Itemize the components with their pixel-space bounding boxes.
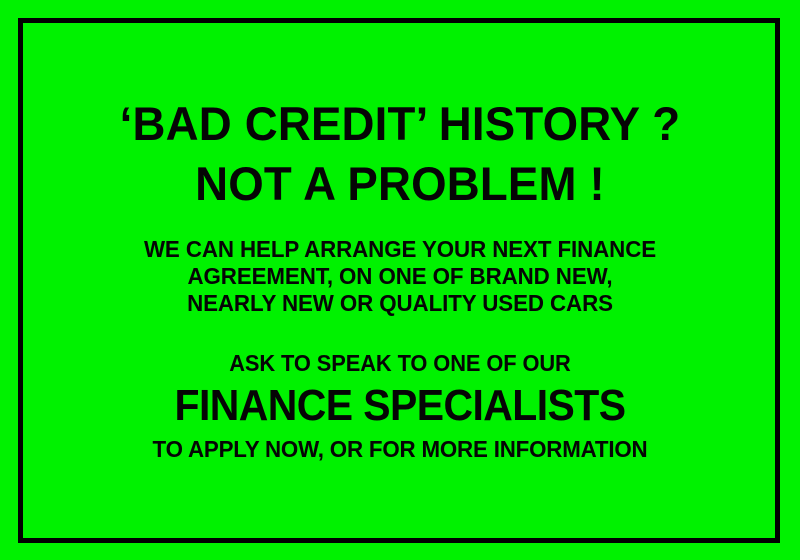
call-to-action-group: ASK TO SPEAK TO ONE OF OUR FINANCE SPECI…: [28, 348, 772, 464]
body-paragraph: WE CAN HELP ARRANGE YOUR NEXT FINANCE AG…: [28, 236, 772, 317]
headline-group: ‘BAD CREDIT’ HISTORY ? NOT A PROBLEM !: [28, 94, 772, 214]
poster: ‘BAD CREDIT’ HISTORY ? NOT A PROBLEM ! W…: [0, 0, 800, 560]
body-line-1: WE CAN HELP ARRANGE YOUR NEXT FINANCE: [47, 236, 754, 263]
headline-line-2: NOT A PROBLEM !: [39, 154, 761, 214]
body-line-3: NEARLY NEW OR QUALITY USED CARS: [47, 290, 754, 317]
cta-intro-line: ASK TO SPEAK TO ONE OF OUR: [47, 348, 754, 378]
headline-line-1: ‘BAD CREDIT’ HISTORY ?: [39, 94, 761, 154]
cta-emphasis-line: FINANCE SPECIALISTS: [54, 378, 746, 434]
cta-footer-line: TO APPLY NOW, OR FOR MORE INFORMATION: [47, 434, 754, 464]
body-line-2: AGREEMENT, ON ONE OF BRAND NEW,: [47, 263, 754, 290]
poster-content: ‘BAD CREDIT’ HISTORY ? NOT A PROBLEM ! W…: [28, 28, 772, 533]
